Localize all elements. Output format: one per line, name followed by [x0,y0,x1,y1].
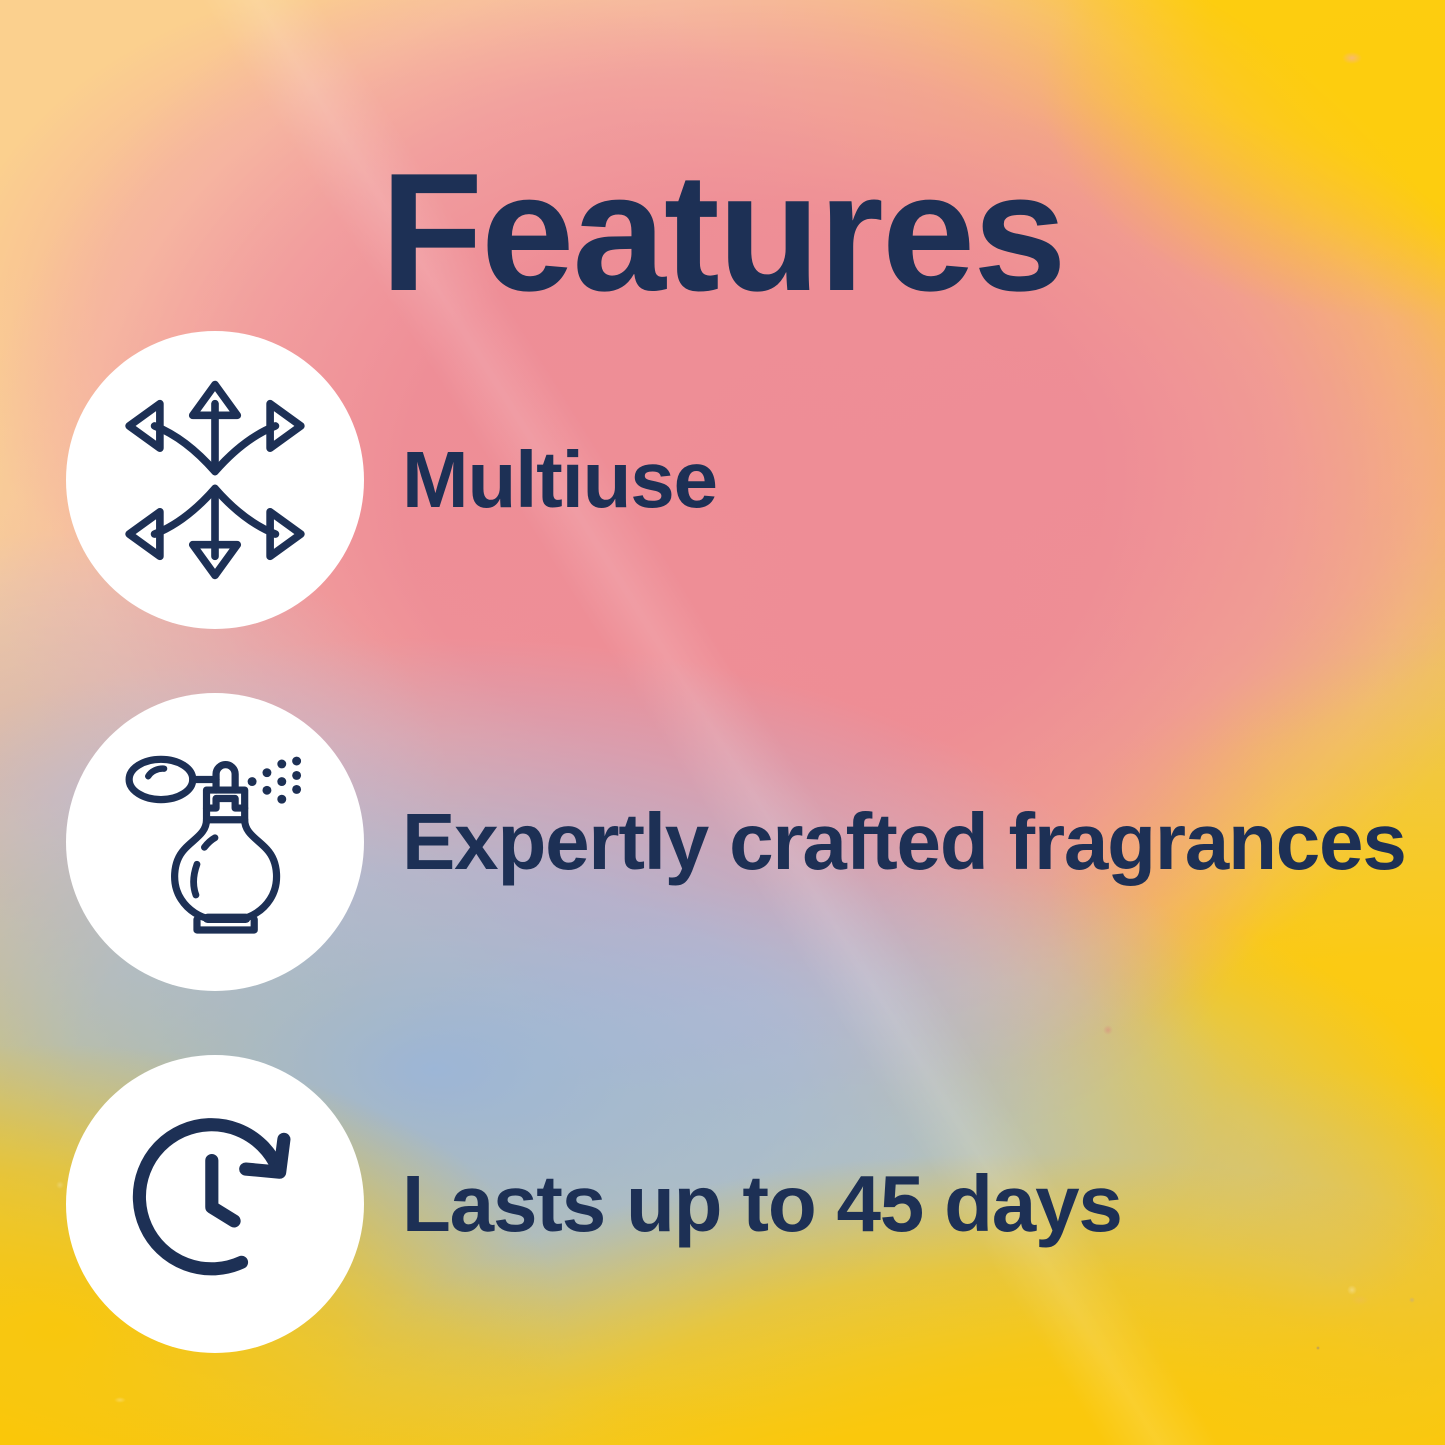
features-infographic: Features [0,0,1445,1445]
feature-item-fragrances: Expertly crafted fragrances [0,692,1445,992]
feature-list: Multiuse [0,330,1445,1416]
feature-label: Lasts up to 45 days [402,1162,1122,1246]
feature-icon-badge [66,331,364,629]
feature-item-duration: Lasts up to 45 days [0,1054,1445,1354]
page-title: Features [0,148,1445,316]
infographic-content: Features [0,0,1445,1445]
multi-directional-arrows-icon [109,374,321,586]
clock-duration-icon [109,1098,321,1310]
feature-icon-badge [66,1055,364,1353]
feature-item-multiuse: Multiuse [0,330,1445,630]
feature-label: Multiuse [402,438,717,522]
perfume-atomizer-icon [109,736,321,948]
feature-icon-badge [66,693,364,991]
feature-label: Expertly crafted fragrances [402,800,1406,884]
